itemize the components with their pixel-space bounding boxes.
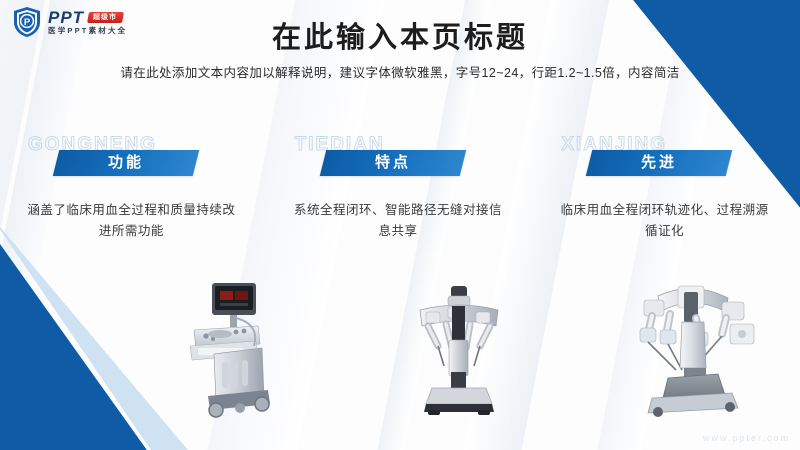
column-header-1: GONGNENG 功能 xyxy=(0,132,267,184)
content-column-3: XIANJING 先进 临床用血全程闭环轨迹化、过程溯源循证化 xyxy=(533,132,800,241)
column-body-2: 系统全程闭环、智能路径无缝对接信息共享 xyxy=(267,200,534,241)
page-title: 在此输入本页标题 xyxy=(0,14,800,56)
content-columns: GONGNENG 功能 涵盖了临床用血全过程和质量持续改进所需功能 TIEDIA… xyxy=(0,132,800,241)
surgical-robot-multiarm-image xyxy=(622,272,762,425)
column-label-1: 功能 xyxy=(56,150,196,176)
column-banner-3[interactable]: 先进 xyxy=(586,150,732,176)
content-column-1: GONGNENG 功能 涵盖了临床用血全过程和质量持续改进所需功能 xyxy=(0,132,267,241)
column-banner-2[interactable]: 特点 xyxy=(319,150,465,176)
column-label-2: 特点 xyxy=(323,150,463,176)
page-subtitle: 请在此处添加文本内容加以解释说明，建议字体微软雅黑，字号12~24，行距1.2~… xyxy=(0,62,800,81)
column-header-3: XIANJING 先进 xyxy=(533,132,800,184)
column-header-2: TIEDIAN 特点 xyxy=(267,132,534,184)
column-banner-1[interactable]: 功能 xyxy=(53,150,199,176)
watermark: www.ppter.com xyxy=(703,433,790,443)
slide-canvas: P PPT 超级市 医学PPT素材大全 在此输入本页标题 请在此处添加文本内容加… xyxy=(0,0,800,450)
ultrasound-machine-image xyxy=(180,278,280,423)
column-body-3: 临床用血全程闭环轨迹化、过程溯源循证化 xyxy=(533,200,800,241)
content-column-2: TIEDIAN 特点 系统全程闭环、智能路径无缝对接信息共享 xyxy=(267,132,534,241)
column-label-3: 先进 xyxy=(589,150,729,176)
surgical-robot-arms-image xyxy=(404,280,514,420)
column-body-1: 涵盖了临床用血全过程和质量持续改进所需功能 xyxy=(0,200,267,241)
